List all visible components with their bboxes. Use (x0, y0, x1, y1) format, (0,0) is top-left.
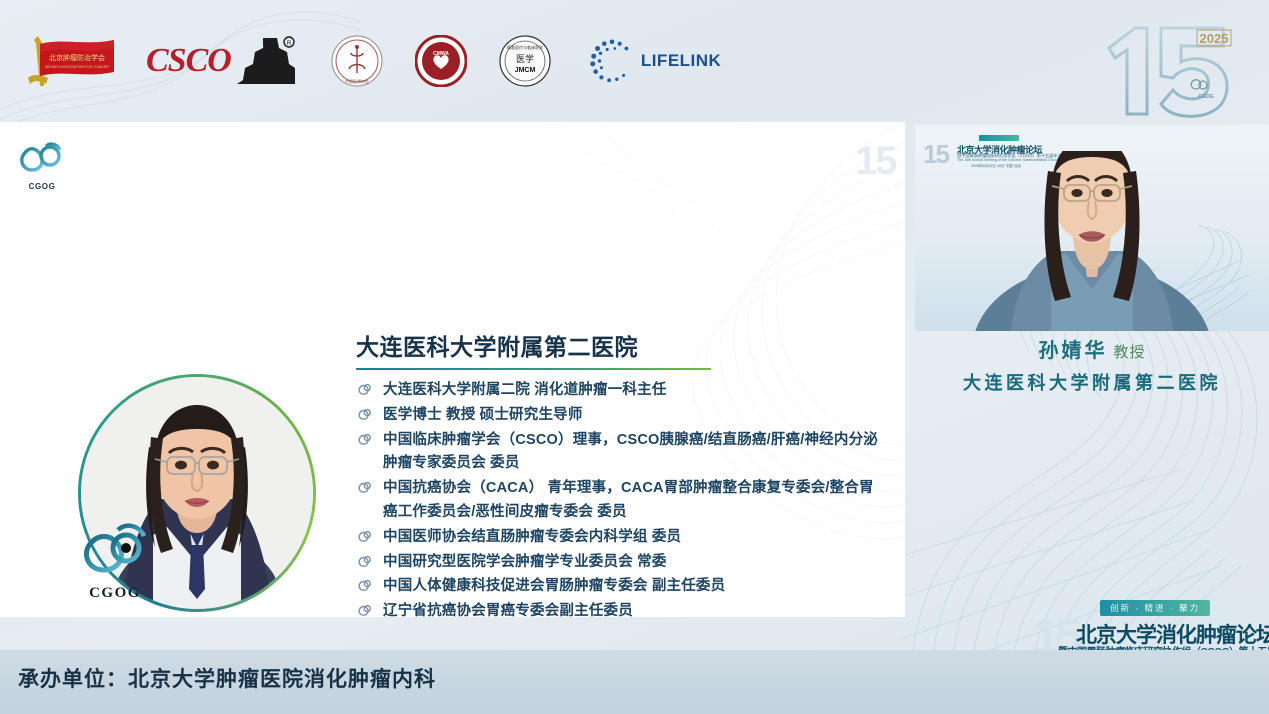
bio-item-text: 中国抗癌协会（CACA） 青年理事，CACA胃部肿瘤整合康复专委会/整合胃癌工作… (383, 480, 874, 520)
great-wall-icon: R (233, 34, 297, 88)
video-banner-tagline-bar (979, 135, 1019, 141)
bio-item: 中国抗癌协会（CACA） 青年理事，CACA胃部肿瘤整合康复专委会/整合胃癌工作… (356, 477, 886, 525)
bio-item-text: 中国人体健康科技促进会胃肠肿瘤专委会 副主任委员 (383, 578, 725, 594)
bio-item-text: 中国临床肿瘤学会（CSCO）理事，CSCO胰腺癌/结直肠癌/肝癌/神经内分泌肿瘤… (383, 432, 878, 472)
bio-item: 大连医科大学附属二院 消化道肿瘤一科主任 (356, 379, 886, 403)
video-speaker-caption: 孙婧华教授 大连医科大学附属第二医院 (915, 337, 1269, 396)
bio-item-text: 中国研究型医院学会肿瘤学专业委员会 常委 (383, 554, 667, 570)
bio-item: 辽宁省抗癌协会胃癌专委会副主任委员 (356, 600, 886, 617)
speaker-portrait: CGOG (78, 374, 316, 612)
cmwa-logo: CMWA (415, 35, 467, 87)
svg-text:R: R (287, 41, 292, 47)
svg-text:北京肿瘤防治学会: 北京肿瘤防治学会 (49, 53, 105, 62)
bio-title: 大连医科大学附属第二医院 (356, 328, 886, 368)
csco-wordmark: CSCO (146, 42, 231, 80)
svg-text:精准医疗与临床医学: 精准医疗与临床医学 (507, 44, 543, 50)
bio-item: 中国医师协会结直肠肿瘤专委会内科学组 委员 (356, 526, 886, 550)
bullet-cgog-icon (358, 555, 371, 568)
anniversary-year: 2025 (1200, 31, 1229, 46)
video-caption-affiliation: 大连医科大学附属第二医院 (915, 370, 1269, 396)
csco-logo: CSCO R (146, 36, 297, 86)
bullet-cgog-icon (358, 604, 371, 617)
video-caption-line1: 孙婧华教授 (915, 337, 1269, 366)
svg-text:CGOG: CGOG (1198, 94, 1213, 100)
anniversary-15-logo: 2025 CGOG (1101, 18, 1241, 122)
dots-circle-icon (587, 36, 637, 86)
bio-list: 大连医科大学附属二院 消化道肿瘤一科主任 医学博士 教授 硕士研究生导师 中国临… (356, 379, 886, 617)
svg-text:中国医师协会: 中国医师协会 (345, 78, 369, 84)
bullet-cgog-icon (358, 408, 371, 421)
bullet-cgog-icon (358, 530, 371, 543)
bio-item: 中国研究型医院学会肿瘤学专业委员会 常委 (356, 551, 886, 575)
speaker-video-panel[interactable]: 15 北京大学消化肿瘤论坛 暨中国胃肠肿瘤临床研究协作组（CGOG）第十五届年会… (915, 125, 1269, 331)
video-caption-name: 孙婧华 (1038, 340, 1107, 362)
slide-watermark-15: 15 (855, 139, 896, 184)
video-speaker-figure (915, 151, 1269, 331)
lifelink-logo: LIFELINK (587, 36, 722, 86)
bio-block: 大连医科大学附属第二医院 大连医科大学附属二院 消化道肿瘤一科主任 医学博士 教… (356, 328, 886, 617)
bullet-cgog-icon (358, 383, 371, 396)
svg-text:CMWA: CMWA (433, 51, 449, 57)
sponsor-logo-bar: 北京肿瘤防治学会 BEIJING ASSOCIATION FOR CANCER … (0, 0, 1269, 122)
bio-item-text: 中国医师协会结直肠肿瘤专委会内科学组 委员 (383, 529, 681, 545)
lifelink-wordmark: LIFELINK (641, 51, 722, 71)
bullet-cgog-icon (358, 481, 371, 494)
flag-logo: 北京肿瘤防治学会 BEIJING ASSOCIATION FOR CANCER (14, 30, 126, 92)
slide-cgog-logo: CGOG (16, 142, 68, 188)
bio-item-text: 辽宁省抗癌协会胃癌专委会副主任委员 (383, 603, 633, 617)
portrait-cgog-badge: CGOG (80, 522, 150, 600)
svg-text:JMCM: JMCM (515, 67, 536, 74)
cgog-label: CGOG (16, 182, 68, 191)
bio-item-text: 大连医科大学附属二院 消化道肿瘤一科主任 (383, 382, 667, 398)
bio-item: 中国人体健康科技促进会胃肠肿瘤专委会 副主任委员 (356, 575, 886, 599)
bullet-cgog-icon (358, 579, 371, 592)
svg-text:医学: 医学 (516, 53, 534, 64)
jmcm-logo: 精准医疗与临床医学 医学 JMCM (499, 35, 551, 87)
bio-item: 中国临床肿瘤学会（CSCO）理事，CSCO胰腺癌/结直肠癌/肝癌/神经内分泌肿瘤… (356, 429, 886, 477)
portrait-cgog-label: CGOG (80, 585, 150, 602)
host-organization-line: 承办单位：北京大学肿瘤医院消化肿瘤内科 (18, 663, 436, 693)
cgog-badge-icon (80, 522, 150, 580)
video-caption-title: 教授 (1113, 345, 1145, 361)
cmda-logo: 中国医师协会 (331, 35, 383, 87)
bio-item-text: 医学博士 教授 硕士研究生导师 (383, 407, 583, 423)
bullet-cgog-icon (358, 433, 371, 446)
bio-underline (356, 368, 711, 370)
svg-text:BEIJING ASSOCIATION FOR CANCER: BEIJING ASSOCIATION FOR CANCER (45, 65, 109, 69)
conference-logo-tagline: 创新 · 精进 · 聚力 (1100, 600, 1210, 616)
bio-item: 医学博士 教授 硕士研究生导师 (356, 404, 886, 428)
presentation-slide[interactable]: CGOG 15 (0, 122, 905, 617)
cgog-mark-icon (16, 142, 68, 176)
